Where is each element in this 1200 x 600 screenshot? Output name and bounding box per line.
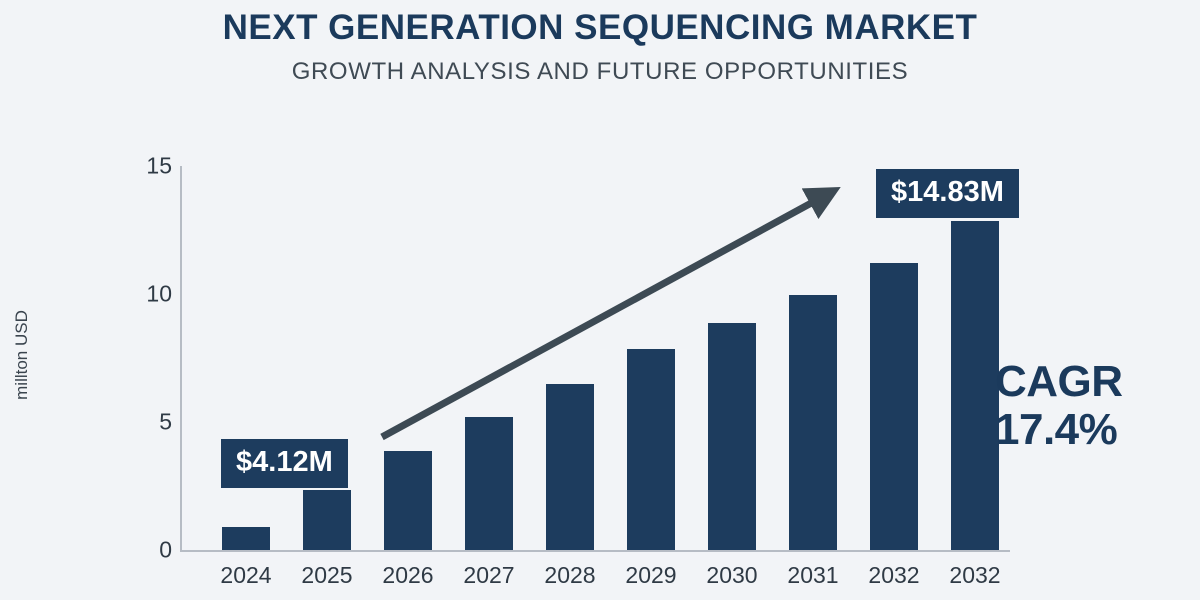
x-tick-label: 2025: [287, 562, 367, 589]
cagr-value: 17.4%: [995, 406, 1175, 454]
bar: [465, 417, 513, 550]
bar: [627, 349, 675, 550]
start-value-callout: $4.12M: [222, 440, 347, 487]
bar: [303, 490, 351, 550]
cagr-label: CAGR: [995, 358, 1175, 406]
cagr-note: CAGR 17.4%: [995, 358, 1175, 453]
x-tick-label: 2028: [530, 562, 610, 589]
x-tick-label: 2032: [854, 562, 934, 589]
page-title: NEXT GENERATION SEQUENCING MARKET: [0, 8, 1200, 48]
x-tick-label: 2024: [206, 562, 286, 589]
end-value-callout: $14.83M: [877, 170, 1018, 217]
bar: [951, 221, 999, 550]
y-tick-label: 5: [112, 409, 172, 436]
x-tick-label: 2030: [692, 562, 772, 589]
bar-series: [180, 166, 1010, 550]
x-tick-label: 2031: [773, 562, 853, 589]
y-axis-tick-labels: 051015: [108, 0, 172, 600]
x-axis-tick-labels: 2024202520262027202820292030203120322032: [180, 562, 1010, 594]
x-tick-label: 2032: [935, 562, 1015, 589]
page-subtitle: GROWTH ANALYSIS AND FUTURE OPPORTUNITIES: [0, 58, 1200, 86]
y-tick-label: 15: [112, 153, 172, 180]
y-tick-label: 10: [112, 281, 172, 308]
bar: [384, 451, 432, 550]
bar: [789, 295, 837, 550]
bar: [870, 263, 918, 550]
chart-canvas: NEXT GENERATION SEQUENCING MARKET GROWTH…: [0, 0, 1200, 600]
x-axis-line: [180, 550, 1010, 552]
bar: [222, 527, 270, 550]
bar: [546, 384, 594, 550]
x-tick-label: 2026: [368, 562, 448, 589]
x-tick-label: 2029: [611, 562, 691, 589]
bar: [708, 323, 756, 550]
y-tick-label: 0: [112, 537, 172, 564]
x-tick-label: 2027: [449, 562, 529, 589]
y-axis-title: millton USD: [12, 270, 32, 440]
